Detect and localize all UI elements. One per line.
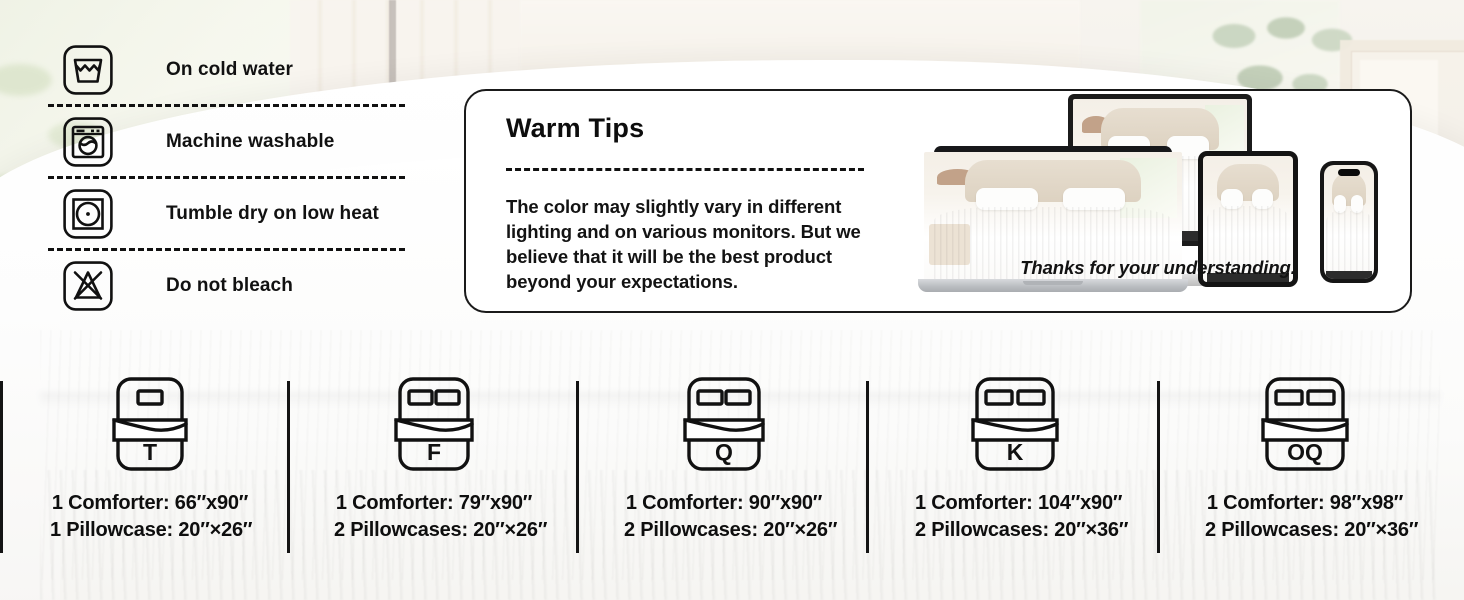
size-divider [0,381,3,553]
warm-tips-card: Warm Tips The color may slightly vary in… [464,89,1412,313]
tumble-dry-icon [62,188,114,240]
bed-size-code: Q [715,439,733,465]
care-item-label: Do not bleach [166,275,293,297]
care-item-label: Machine washable [166,131,334,153]
size-divider [576,381,579,553]
size-option-t: T 1 Comforter: 66″x90″ 1 Pillowcase: 20″… [50,376,250,544]
bed-size-code: F [427,439,441,465]
size-comforter-label: 1 Comforter: 79″x90″ [334,490,534,517]
warm-tips-body: The color may slightly vary in different… [506,194,884,294]
care-item-label: On cold water [166,59,293,81]
size-divider [287,381,290,553]
care-item-do-not-bleach: Do not bleach [48,250,418,322]
size-pillowcase-label: 2 Pillowcases: 20″×26″ [624,517,824,544]
machine-wash-icon [62,116,114,168]
bed-icon-double-pillow: F [384,376,484,472]
care-instructions-list: On cold water Machine washable [48,34,418,322]
no-bleach-icon [62,260,114,312]
bed-size-code: T [143,439,157,465]
size-comforter-label: 1 Comforter: 98″x98″ [1205,490,1405,517]
bed-icon-double-pillow: OQ [1255,376,1355,472]
size-chart: T 1 Comforter: 66″x90″ 1 Pillowcase: 20″… [0,376,1464,566]
bed-icon-double-pillow: Q [674,376,774,472]
bed-size-code: OQ [1287,439,1323,465]
warm-tips-divider [506,168,864,171]
size-pillowcase-label: 2 Pillowcases: 20″×36″ [1205,517,1405,544]
size-option-f: F 1 Comforter: 79″x90″ 2 Pillowcases: 20… [334,376,534,544]
size-divider [866,381,869,553]
care-item-machine-washable: Machine washable [48,106,418,178]
size-pillowcase-label: 2 Pillowcases: 20″×36″ [915,517,1115,544]
bed-size-code: K [1007,439,1024,465]
care-item-on-cold-water: On cold water [48,34,418,106]
warm-tips-thanks: Thanks for your understanding. [938,257,1378,279]
size-divider [1157,381,1160,553]
wash-cold-icon [62,44,114,96]
phone-dynamic-island [1338,169,1360,176]
size-option-oq: OQ 1 Comforter: 98″x98″ 2 Pillowcases: 2… [1205,376,1405,544]
size-comforter-label: 1 Comforter: 90″x90″ [624,490,824,517]
size-comforter-label: 1 Comforter: 104″x90″ [915,490,1115,517]
infographic-canvas: On cold water Machine washable [0,0,1464,600]
size-comforter-label: 1 Comforter: 66″x90″ [50,490,250,517]
warm-tips-title: Warm Tips [506,113,644,144]
bed-icon-double-pillow: K [965,376,1065,472]
care-item-label: Tumble dry on low heat [166,203,379,225]
size-pillowcase-label: 1 Pillowcase: 20″×26″ [50,517,250,544]
size-option-k: K 1 Comforter: 104″x90″ 2 Pillowcases: 2… [915,376,1115,544]
care-item-tumble-dry: Tumble dry on low heat [48,178,418,250]
bed-icon-single-pillow: T [100,376,200,472]
size-pillowcase-label: 2 Pillowcases: 20″×26″ [334,517,534,544]
size-option-q: Q 1 Comforter: 90″x90″ 2 Pillowcases: 20… [624,376,824,544]
